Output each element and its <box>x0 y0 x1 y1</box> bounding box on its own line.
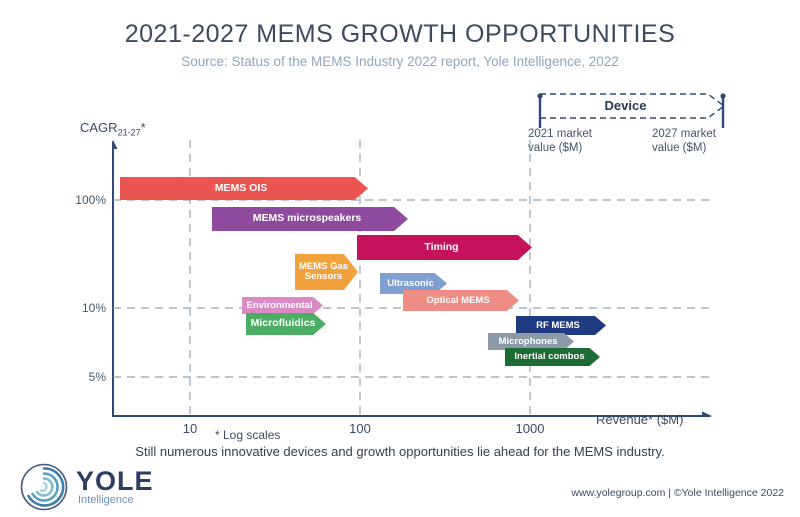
footer-copyright: www.yolegroup.com | ©Yole Intelligence 2… <box>571 487 784 499</box>
bar-label: Ultrasonic <box>380 279 447 289</box>
bar-mems-microspeakers: MEMS microspeakers <box>212 207 408 231</box>
bar-label: Optical MEMS <box>403 296 519 306</box>
bar-rf-mems: RF MEMS <box>516 316 606 335</box>
bar-label: MEMS OIS <box>120 183 368 194</box>
bar-label: MEMS Gas Sensors <box>295 262 358 282</box>
bar-mems-ois: MEMS OIS <box>120 177 368 200</box>
bar-label: MEMS microspeakers <box>212 213 408 224</box>
legend-device-label: Device <box>528 98 723 113</box>
y-axis-title-sub: 21-27 <box>118 128 141 138</box>
y-axis-title: CAGR21-27* <box>80 120 146 138</box>
y-tick-label-10: 10% <box>62 301 106 315</box>
bar-microfluidics: Microfluidics <box>246 313 326 335</box>
bar-timing: Timing <box>357 235 532 260</box>
bar-label: Timing <box>357 242 532 253</box>
bar-label: RF MEMS <box>516 321 606 331</box>
logo-wordmark: YOLE <box>76 466 154 497</box>
chart-subtitle: Source: Status of the MEMS Industry 2022… <box>0 54 800 69</box>
y-axis-title-text: CAGR <box>80 120 118 135</box>
page-title: 2021-2027 MEMS GROWTH OPPORTUNITIES <box>0 20 800 49</box>
x-tick-label-10: 10 <box>160 421 220 436</box>
y-axis-title-star: * <box>141 120 146 135</box>
bar-optical-mems: Optical MEMS <box>403 290 519 311</box>
bar-microphones: Microphones <box>488 333 574 350</box>
bar-label: Microphones <box>488 337 574 347</box>
bar-inertial-combos: Inertial combos <box>505 348 600 366</box>
x-axis-title: Revenue* ($M) <box>596 412 683 427</box>
log-scale-note: * Log scales <box>215 428 280 442</box>
bar-label: Environmental <box>242 301 323 311</box>
x-tick-label-1000: 1000 <box>500 421 560 436</box>
y-tick-label-100: 100% <box>62 193 106 207</box>
yole-swirl-icon <box>18 462 70 512</box>
bar-environmental: Environmental <box>242 297 323 314</box>
x-tick-label-100: 100 <box>330 421 390 436</box>
yole-logo: YOLE Intelligence <box>18 462 258 514</box>
plot-area: MEMS OISMEMS microspeakersTimingMEMS Gas… <box>112 140 712 417</box>
bar-label: Inertial combos <box>505 352 600 362</box>
logo-subtext: Intelligence <box>78 494 134 506</box>
y-tick-label-5: 5% <box>62 370 106 384</box>
footer-caption: Still numerous innovative devices and gr… <box>0 444 800 459</box>
bar-label: Microfluidics <box>246 318 326 329</box>
